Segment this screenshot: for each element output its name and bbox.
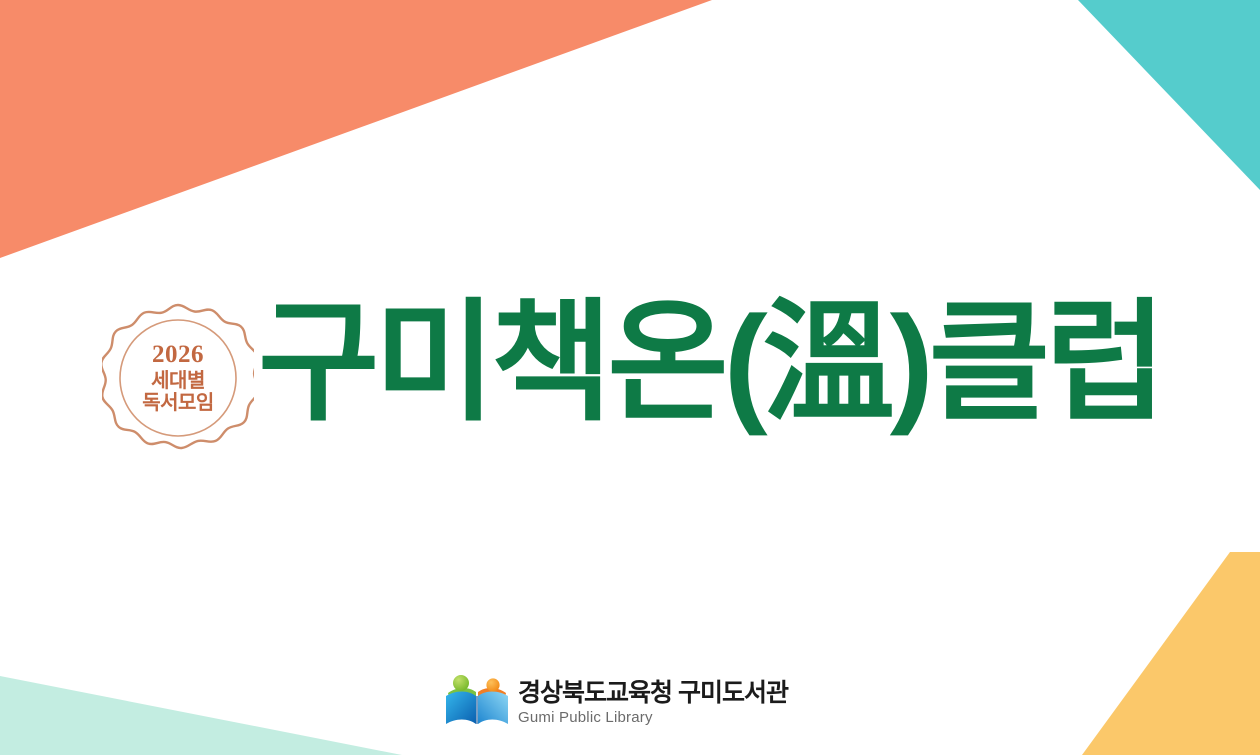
figure-head-orange: [486, 678, 499, 691]
footer-logo-block: 경상북도교육청 구미도서관 Gumi Public Library: [444, 672, 788, 734]
figure-head-green: [453, 675, 469, 691]
organization-name: 경상북도교육청 구미도서관: [518, 679, 788, 707]
anniversary-badge: 2026 세대별 독서모임: [102, 302, 254, 454]
organization-name-english: Gumi Public Library: [518, 709, 788, 727]
book-right-page: [478, 692, 508, 725]
teal-corner-top-right: [1078, 0, 1260, 190]
book-spine: [476, 696, 478, 724]
book-left-page: [446, 692, 476, 725]
poster-main-title: 구미책온(溫)클럽: [258, 288, 1148, 438]
badge-line-1: 세대별: [151, 371, 205, 392]
yellow-corner-bottom-right: [1082, 552, 1260, 755]
coral-corner-top-left: [0, 0, 712, 258]
mint-corner-bottom-left: [0, 676, 402, 755]
badge-text-block: 2026 세대별 독서모임: [102, 302, 254, 454]
badge-year: 2026: [152, 342, 204, 368]
footer-text-block: 경상북도교육청 구미도서관 Gumi Public Library: [518, 679, 788, 727]
poster-canvas: 2026 세대별 독서모임 구미책온(溫)클럽: [0, 0, 1260, 755]
badge-line-2: 독서모임: [142, 393, 214, 414]
open-book-logo-icon: [444, 674, 510, 732]
